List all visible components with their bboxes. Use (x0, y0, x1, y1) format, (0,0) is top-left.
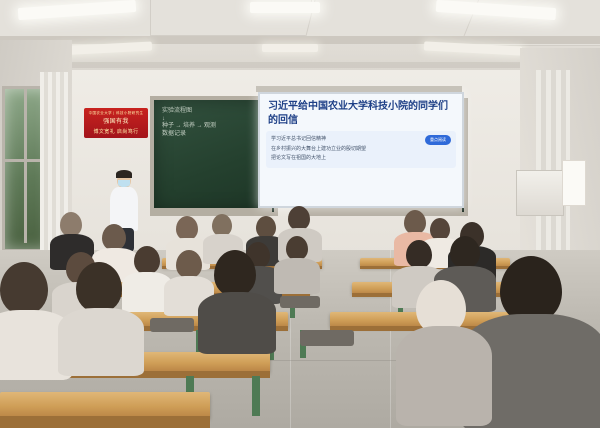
student-head-foreground (500, 256, 562, 322)
banner-line-3: 博文宽礼 启尚笃行 (84, 129, 148, 137)
wall-banner: 中国农业大学 | 科技小院研究生 强国有我 博文宽礼 启尚笃行 (84, 108, 148, 138)
student-head (176, 250, 202, 278)
screen-mount (256, 86, 462, 92)
slide-line: 把论文写在祖国的大地上 (271, 154, 451, 164)
student-head (288, 206, 310, 230)
student-head-foreground (76, 262, 122, 312)
student-head (450, 236, 480, 268)
slide-line: 学习近平总书记回信精神 (271, 135, 451, 145)
student-head (176, 216, 198, 240)
student-body-foreground (58, 308, 144, 376)
slide-body: 重点阅读 学习近平总书记回信精神 在乡村振兴的大舞台上建功立业的殷切期望 把论文… (266, 131, 456, 168)
side-cabinet (516, 170, 564, 216)
student-head (430, 218, 450, 240)
banner-line-1: 中国农业大学 | 科技小院研究生 (84, 111, 148, 116)
student-head (406, 240, 432, 268)
window-mullion (24, 89, 27, 243)
ceiling-light (250, 2, 320, 13)
student-body-foreground (396, 326, 492, 426)
banner-line-2: 强国有我 (84, 118, 148, 127)
projection-screen: 习近平给中国农业大学科技小院的同学们的回信 重点阅读 学习近平总书记回信精神 在… (258, 92, 464, 208)
window-mullion (5, 159, 43, 162)
desk-row (0, 392, 210, 418)
slide-chip: 重点阅读 (425, 135, 451, 145)
student-head (60, 212, 82, 236)
student-head (256, 216, 276, 238)
chalk-tray (300, 208, 462, 213)
chalkboard-left-content: 实验流程图 ↓ 种子 → 培养 → 观测 数据记录 (162, 108, 266, 138)
teacher-mask (118, 180, 130, 187)
slide-line: 在乡村振兴的大舞台上建功立业的殷切期望 (271, 145, 451, 155)
student-head-foreground (0, 262, 48, 314)
student-head (212, 214, 232, 236)
ceiling-beam (0, 36, 600, 44)
chalk-tray (150, 208, 272, 213)
ceiling-beam (0, 62, 600, 68)
teacher-hair (116, 170, 132, 178)
slide-title: 习近平给中国农业大学科技小院的同学们的回信 (260, 94, 462, 129)
student-head (286, 236, 308, 260)
classroom-photo: 实验流程图 ↓ 种子 → 培养 → 观测 数据记录 y = f(x) + ε ∑… (0, 0, 600, 428)
chair-back (150, 318, 194, 332)
chair-back (280, 296, 320, 308)
ceiling-light (262, 44, 318, 52)
student-head (134, 246, 160, 274)
student-body-foreground (198, 292, 276, 354)
desk-edge (0, 416, 210, 428)
chair-back (300, 330, 354, 346)
student-head (102, 224, 126, 250)
wall-notice (562, 160, 586, 206)
desk-leg (252, 376, 260, 416)
student-head-foreground (214, 250, 256, 296)
student-head (404, 210, 426, 234)
student-body (274, 258, 320, 294)
